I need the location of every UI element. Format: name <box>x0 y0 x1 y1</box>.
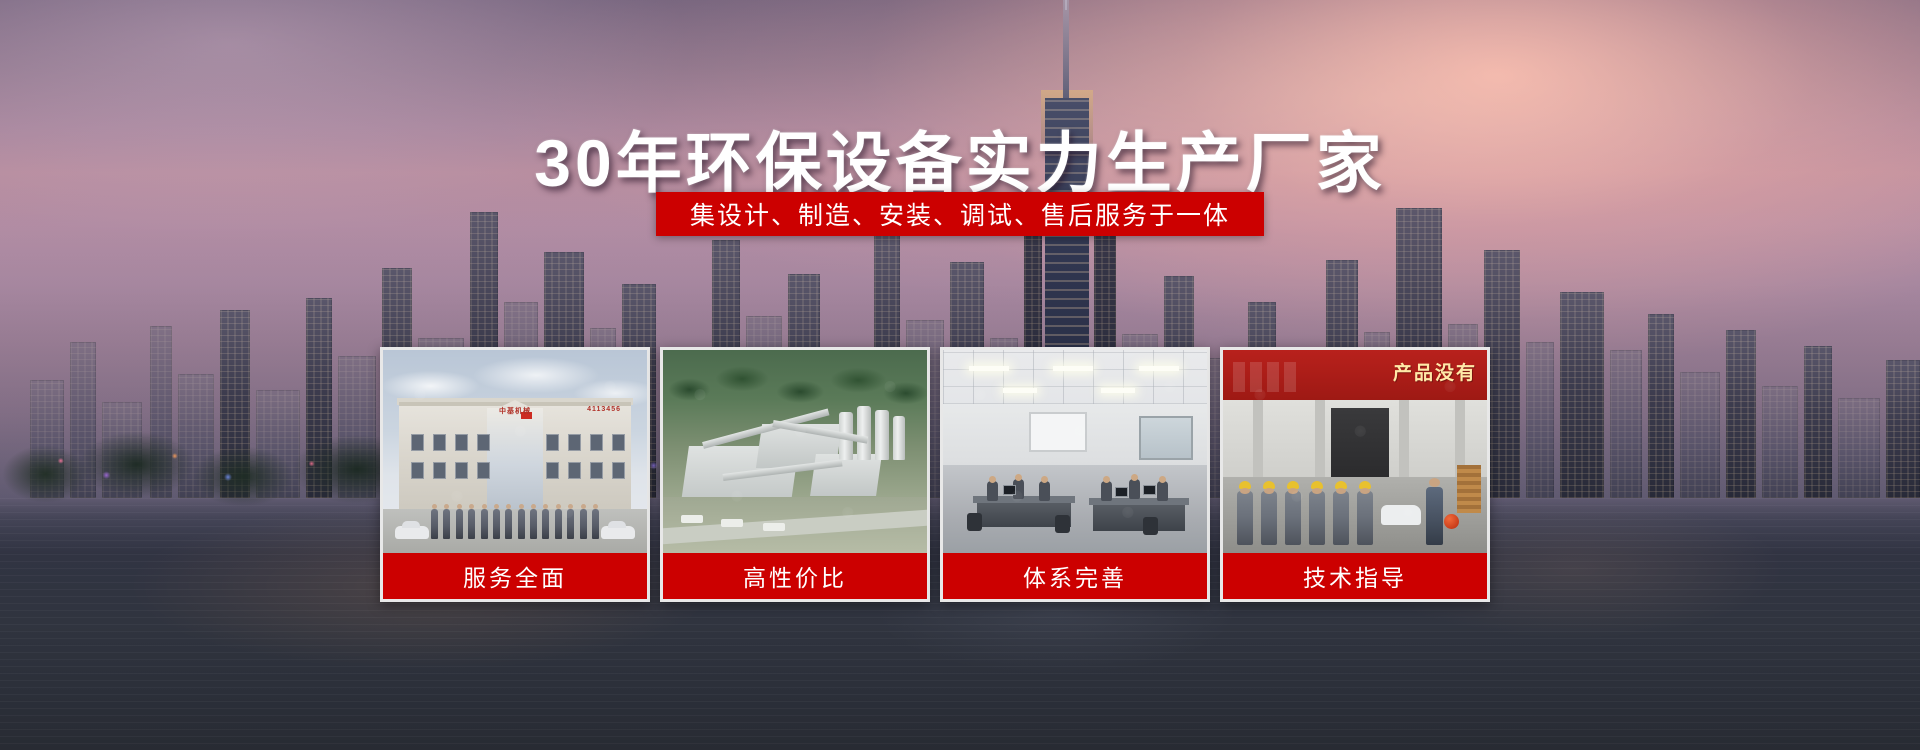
company-office-building-photo: 中基机械 4113456 <box>383 350 647 553</box>
workshop-workers-photo: 产品没有 <box>1223 350 1487 553</box>
subtitle-banner: 集设计、制造、安装、调试、售后服务于一体 <box>656 192 1264 236</box>
feature-card-service[interactable]: 中基机械 4113456 <box>380 347 650 602</box>
safety-helmet-icon <box>1444 514 1459 529</box>
feature-card-guidance[interactable]: 产品没有 技术指导 <box>1220 347 1490 602</box>
building-phone-text: 4113456 <box>587 406 621 413</box>
feature-card-caption: 服务全面 <box>383 553 647 599</box>
feature-card-caption: 体系完善 <box>943 553 1207 599</box>
feature-card-value[interactable]: 高性价比 <box>660 347 930 602</box>
feature-card-caption: 高性价比 <box>663 553 927 599</box>
tower-antenna <box>1065 0 1067 10</box>
aerial-factory-plant-photo <box>663 350 927 553</box>
tower-spire <box>1063 0 1069 98</box>
feature-card-system[interactable]: 体系完善 <box>940 347 1210 602</box>
factory-banner-text: 产品没有 <box>1393 358 1477 385</box>
feature-card-row: 中基机械 4113456 <box>380 347 1490 602</box>
office-interior-staff-photo <box>943 350 1207 553</box>
feature-card-caption: 技术指导 <box>1223 553 1487 599</box>
subtitle-text: 集设计、制造、安装、调试、售后服务于一体 <box>690 196 1230 232</box>
hero-banner: 30年环保设备实力生产厂家 集设计、制造、安装、调试、售后服务于一体 中基机械 … <box>0 0 1920 750</box>
